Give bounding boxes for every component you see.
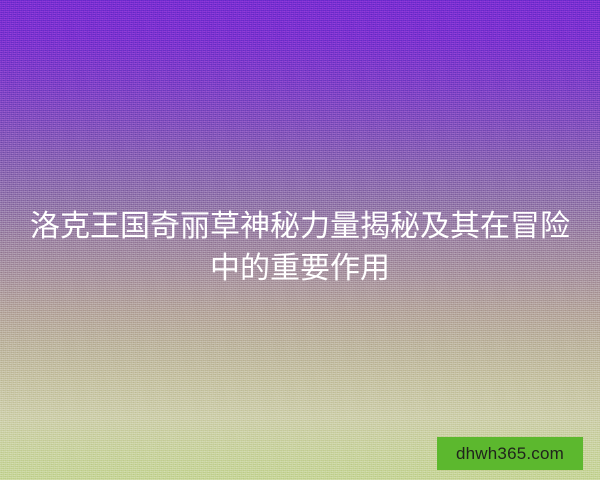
site-watermark-badge: dhwh365.com (437, 437, 583, 470)
site-watermark-label: dhwh365.com (456, 444, 564, 463)
poster-canvas: 洛克王国奇丽草神秘力量揭秘及其在冒险 中的重要作用 dhwh365.com (0, 0, 600, 480)
page-title: 洛克王国奇丽草神秘力量揭秘及其在冒险 中的重要作用 (26, 206, 574, 290)
